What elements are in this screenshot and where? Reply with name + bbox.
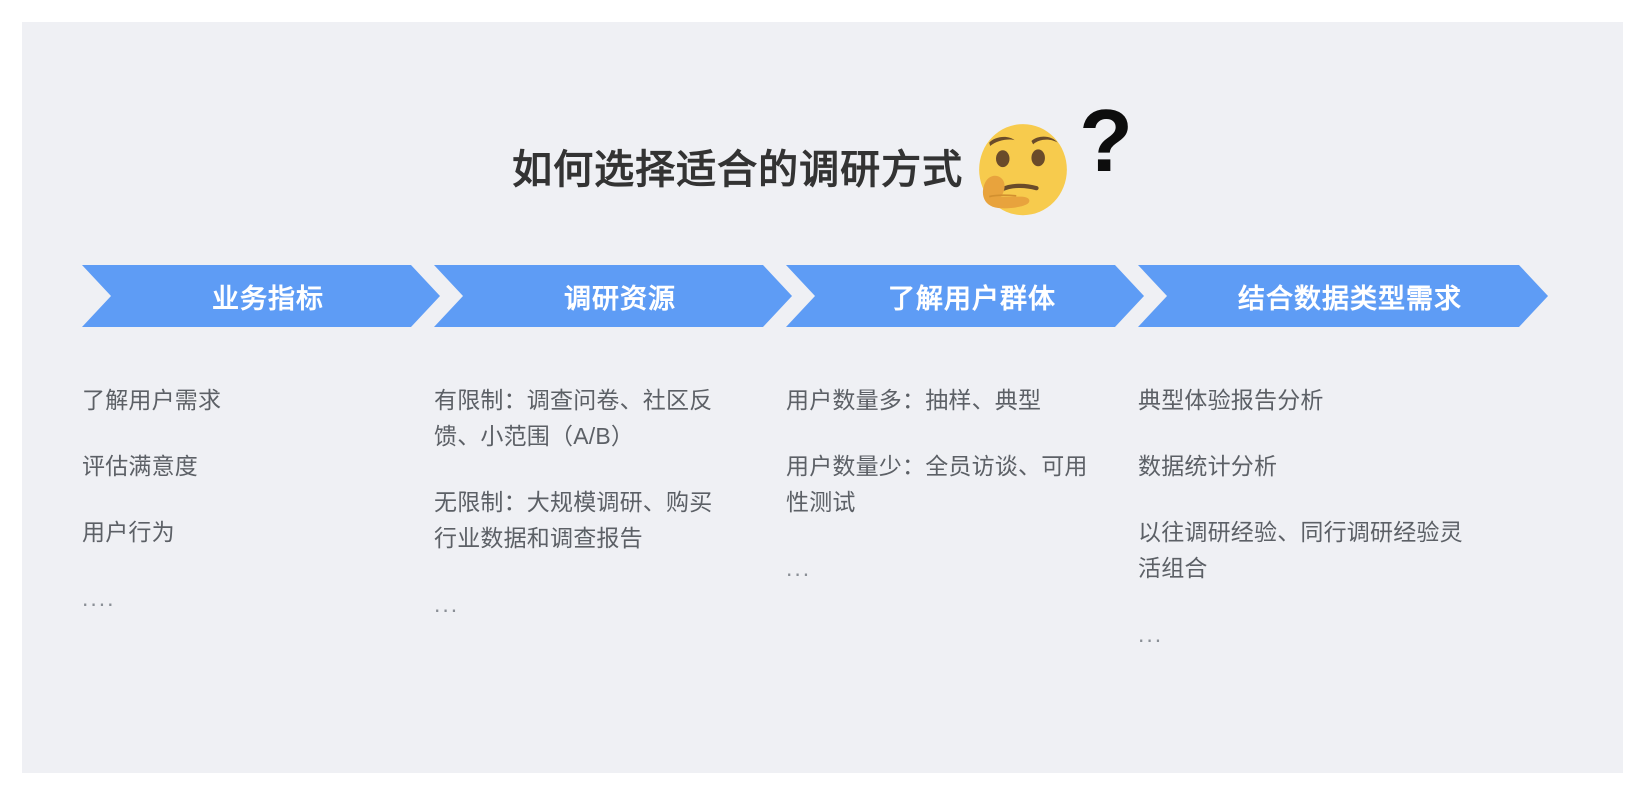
column-item: 数据统计分析 [1138, 448, 1468, 484]
column-data-type-needs: 典型体验报告分析 数据统计分析 以往调研经验、同行调研经验灵活组合 ... [1138, 382, 1468, 682]
column-item: 典型体验报告分析 [1138, 382, 1468, 418]
banner-step-4[interactable]: 结合数据类型需求 [1138, 265, 1548, 327]
column-item-ellipsis: .... [82, 580, 392, 616]
column-item: 无限制：大规模调研、购买行业数据和调查报告 [434, 484, 734, 556]
thinking-face-icon [969, 119, 1077, 227]
column-item: 有限制：调查问卷、社区反馈、小范围（A/B） [434, 382, 734, 454]
column-research-resources: 有限制：调查问卷、社区反馈、小范围（A/B） 无限制：大规模调研、购买行业数据和… [434, 382, 734, 652]
content-columns: 了解用户需求 评估满意度 用户行为 .... 有限制：调查问卷、社区反馈、小范围… [22, 382, 1623, 712]
column-item: 用户数量多：抽样、典型 [786, 382, 1096, 418]
column-user-group: 用户数量多：抽样、典型 用户数量少：全员访谈、可用性测试 ... [786, 382, 1096, 616]
column-item-ellipsis: ... [786, 550, 1096, 586]
column-business-metrics: 了解用户需求 评估满意度 用户行为 .... [82, 382, 392, 646]
banner-step-1[interactable]: 业务指标 [82, 265, 440, 327]
header-title-row: 如何选择适合的调研方式 ? [22, 110, 1623, 230]
column-item: 了解用户需求 [82, 382, 392, 418]
column-item: 评估满意度 [82, 448, 392, 484]
column-item-ellipsis: ... [1138, 616, 1468, 652]
column-item: 用户行为 [82, 514, 392, 550]
banner-label: 了解用户群体 [874, 277, 1056, 316]
banner-step-3[interactable]: 了解用户群体 [786, 265, 1144, 327]
question-mark-icon: ? [1079, 97, 1133, 185]
banner-label: 结合数据类型需求 [1224, 277, 1462, 316]
chevron-banner-row: 业务指标 调研资源 了解用户群体 结合数据类型需求 [22, 265, 1623, 349]
infographic-card: 如何选择适合的调研方式 ? 业务指标 调研资源 了解用户群体 [22, 22, 1623, 773]
column-item: 以往调研经验、同行调研经验灵活组合 [1138, 514, 1468, 586]
page-title: 如何选择适合的调研方式 [512, 150, 963, 190]
column-item: 用户数量少：全员访谈、可用性测试 [786, 448, 1096, 520]
column-item-ellipsis: ... [434, 586, 734, 622]
banner-label: 调研资源 [550, 277, 676, 316]
banner-label: 业务指标 [198, 277, 324, 316]
banner-step-2[interactable]: 调研资源 [434, 265, 792, 327]
